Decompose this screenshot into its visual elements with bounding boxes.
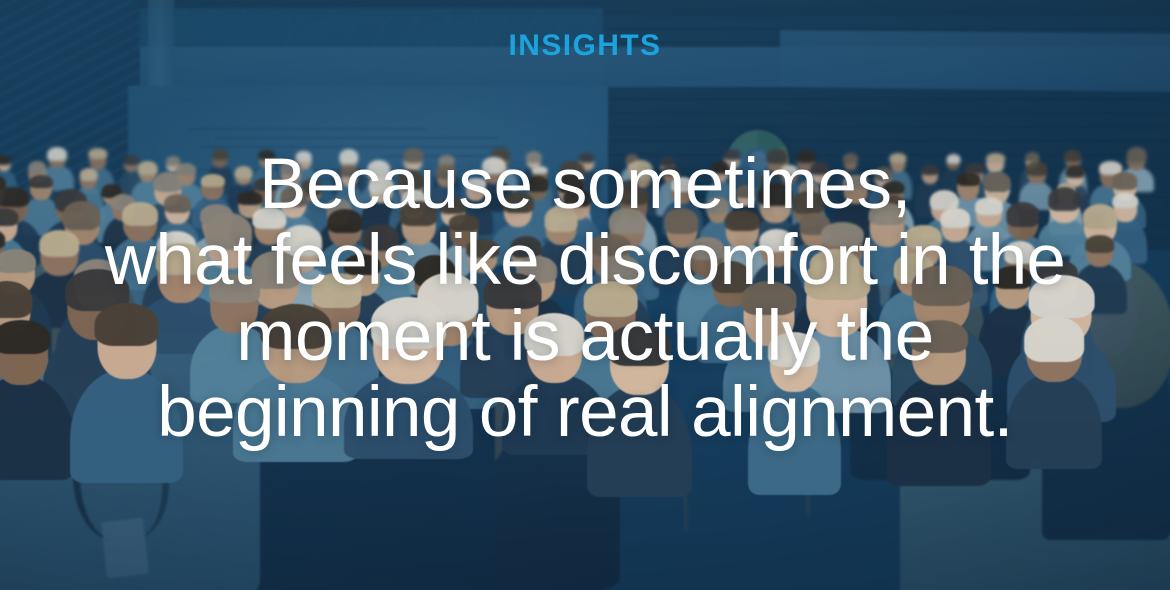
slide-content: INSIGHTS Because sometimes, what feels l…	[0, 0, 1170, 590]
eyebrow-label: INSIGHTS	[509, 31, 662, 61]
quote-line-3: moment is actually the	[0, 299, 1170, 375]
quote-line-4: beginning of real alignment.	[0, 375, 1170, 451]
quote-line-1: Because sometimes,	[0, 147, 1170, 223]
slide-canvas: INSIGHTS Because sometimes, what feels l…	[0, 0, 1170, 590]
quote-text: Because sometimes, what feels like disco…	[0, 147, 1170, 451]
quote-line-2: what feels like discomfort in the	[0, 223, 1170, 299]
